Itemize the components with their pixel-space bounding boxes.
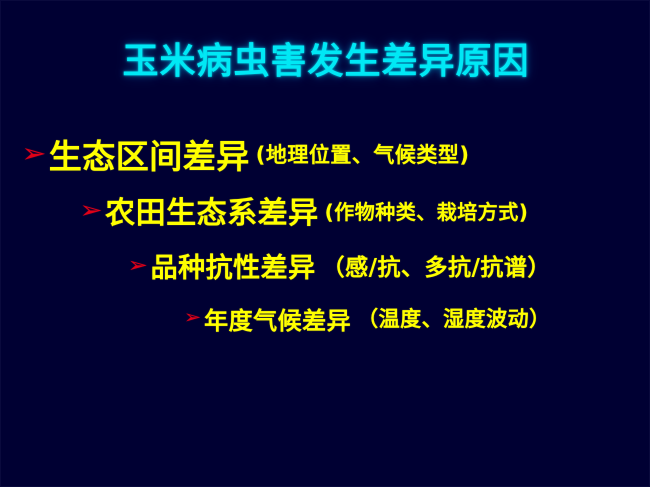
bullet-item-2: ➢ 农田生态系差异 (作物种类、栽培方式) bbox=[81, 182, 650, 238]
bullet-item-2-detail-text: (作物种类、栽培方式) bbox=[325, 196, 529, 225]
bullet-item-3-main-text: 品种抗性差异 bbox=[151, 246, 316, 285]
red-arrow-bullet-icon: ➢ bbox=[79, 198, 102, 222]
bullet-item-1-detail-text: (地理位置、气候类型) bbox=[256, 139, 470, 169]
bullet-item-1: ➢ 生态区间差异 (地理位置、气候类型) bbox=[23, 126, 650, 182]
bullet-list: ➢ 生态区间差异 (地理位置、气候类型) ➢ 农田生态系差异 (作物种类、栽培方… bbox=[1, 126, 650, 344]
red-arrow-bullet-icon: ➢ bbox=[184, 309, 201, 327]
red-arrow-bullet-icon: ➢ bbox=[21, 141, 46, 167]
bullet-item-4-main-text: 年度气候差异 bbox=[204, 301, 351, 336]
bullet-item-2-main-text: 农田生态系差异 bbox=[105, 188, 319, 232]
presentation-slide: 玉米病虫害发生差异原因 ➢ 生态区间差异 (地理位置、气候类型) ➢ 农田生态系… bbox=[0, 0, 650, 487]
bullet-item-3-detail-text: （感/抗、多抗/抗谱） bbox=[322, 248, 551, 282]
bullet-item-4-detail-text: （温度、湿度波动） bbox=[357, 303, 551, 333]
bullet-item-3: ➢ 品种抗性差异 （感/抗、多抗/抗谱） bbox=[129, 238, 650, 292]
bullet-item-1-main-text: 生态区间差异 bbox=[49, 130, 250, 178]
slide-title: 玉米病虫害发生差异原因 bbox=[1, 41, 650, 83]
bullet-item-4: ➢ 年度气候差异 （温度、湿度波动） bbox=[185, 292, 650, 344]
red-arrow-bullet-icon: ➢ bbox=[128, 255, 148, 276]
